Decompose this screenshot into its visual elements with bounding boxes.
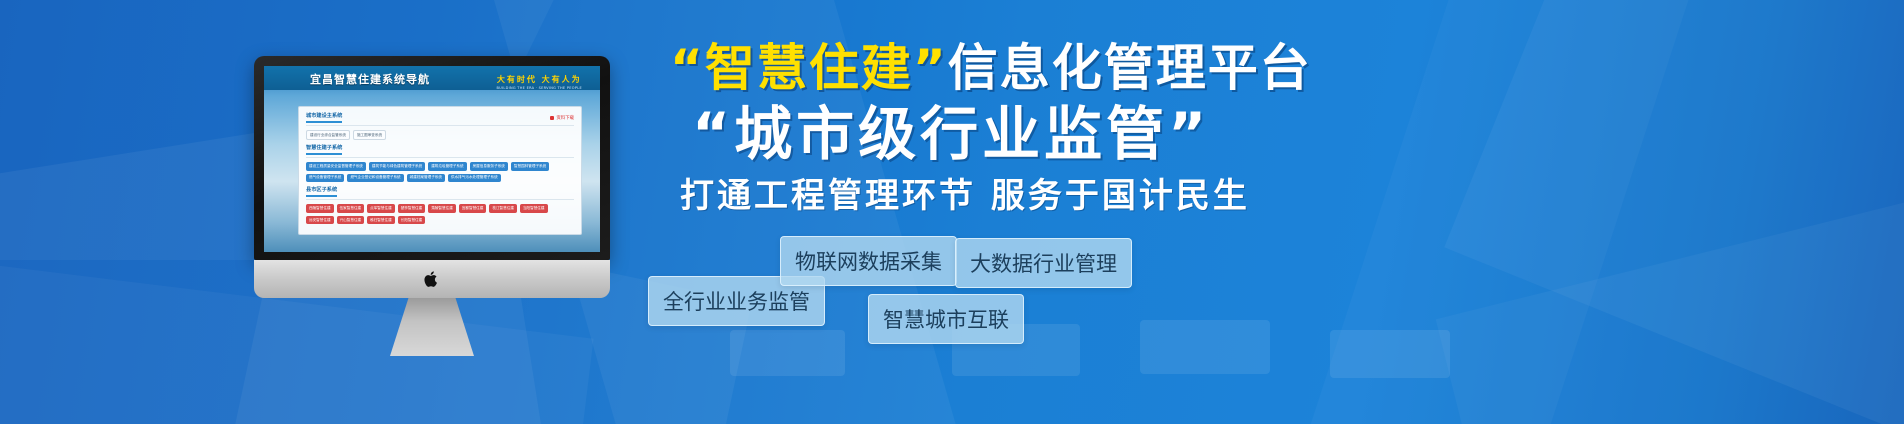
screen-chip[interactable]: 智慧园林管理子系统 [511,162,549,171]
download-label: 资料下载 [556,115,574,121]
screen-chip[interactable]: 猇亭智慧住建 [398,204,426,213]
headline-line-1-rest: 信息化管理平台 [948,39,1312,97]
screen-chip-group-sub: 建设工程质量安全监督管理子系统 建筑节能与绿色建筑管理子系统 建筑垃圾管理子系统… [306,162,574,182]
screen-section-header: 县市区子系统 [306,186,574,200]
tag-ghost-block [1330,330,1450,378]
screen-chip[interactable]: 宜都智慧住建 [459,204,487,213]
screen-panel: 城市建设主系统 资料下载 建设行业综合监管系统 施工图审查系统 智慧住建子系统 [298,106,582,235]
headline-line-2: “城市级行业监管” [648,100,1888,168]
headline-line-3: 打通工程管理环节 服务于国计民生 [648,174,1888,218]
screen-chip[interactable]: 夷陵智慧住建 [428,204,456,213]
screen-section-header: 城市建设主系统 资料下载 [306,112,574,126]
download-link[interactable]: 资料下载 [550,115,574,121]
headline-highlight: “智慧住建” [670,39,948,97]
screen-chip[interactable]: 建设行业综合监管系统 [306,130,350,140]
screen-chip[interactable]: 当阳智慧住建 [520,204,548,213]
screen-chip-group-district: 西陵智慧住建 伍家智慧住建 点军智慧住建 猇亭智慧住建 夷陵智慧住建 宜都智慧住… [306,204,574,224]
screen-section-title: 城市建设主系统 [306,112,342,123]
screen-header-title: 宜昌智慧住建系统导航 [310,71,430,87]
promo-banner: 宜昌智慧住建系统导航 大有时代 大有人为 BUILDING THE ERA · … [0,0,1904,424]
headline-block: “智慧住建”信息化管理平台 “城市级行业监管” 打通工程管理环节 服务于国计民生 [648,40,1888,219]
apple-logo-icon [424,270,440,288]
screen-chip[interactable]: 点军智慧住建 [367,204,395,213]
screen-chip-group-main: 建设行业综合监管系统 施工图审查系统 [306,130,574,140]
imac-mockup: 宜昌智慧住建系统导航 大有时代 大有人为 BUILDING THE ERA · … [254,56,610,356]
screen-chip[interactable]: 远安智慧住建 [306,216,334,225]
screen-section-title: 县市区子系统 [306,186,337,197]
screen-chip[interactable]: 施工图审查系统 [353,130,386,140]
screen-chip[interactable]: 供水排气污水处理管理子系统 [448,174,501,183]
tag-ghost-block [730,330,845,376]
screen-chip[interactable]: 燃气设备管理子系统 [306,174,344,183]
screen-chip[interactable]: 燃气企业登记和设备管理子系统 [347,174,403,183]
feature-tag-big-data[interactable]: 大数据行业管理 [955,238,1132,288]
feature-tag-iot-data[interactable]: 物联网数据采集 [780,236,957,286]
tag-ghost-block [1140,320,1270,374]
screen-chip[interactable]: 西陵智慧住建 [306,204,334,213]
feature-tag-smart-city[interactable]: 智慧城市互联 [868,294,1024,344]
screen-chip[interactable]: 建设工程质量安全监督管理子系统 [306,162,366,171]
monitor-screen: 宜昌智慧住建系统导航 大有时代 大有人为 BUILDING THE ERA · … [264,66,600,252]
screen-chip[interactable]: 建筑垃圾管理子系统 [428,162,466,171]
screen-chip[interactable]: 秭归智慧住建 [367,216,395,225]
brand-logo-main: 大有时代 大有人为 [497,75,582,84]
screen-chip[interactable]: 伍家智慧住建 [337,204,365,213]
screen-brand-logo: 大有时代 大有人为 BUILDING THE ERA · SERVING THE… [496,69,582,91]
screen-chip[interactable]: 房屋信息服务子系统 [470,162,508,171]
screen-chip[interactable]: 建筑节能与绿色建筑管理子系统 [369,162,425,171]
download-icon [550,116,554,120]
screen-section-title: 智慧住建子系统 [306,144,342,155]
screen-chip[interactable]: 枝江智慧住建 [489,204,517,213]
monitor-stand [390,298,474,356]
screen-header: 宜昌智慧住建系统导航 大有时代 大有人为 BUILDING THE ERA · … [264,66,600,90]
brand-logo-sub: BUILDING THE ERA · SERVING THE PEOPLE [496,87,582,91]
screen-section-header: 智慧住建子系统 [306,144,574,158]
screen-chip[interactable]: 城建档案管理子系统 [407,174,445,183]
monitor-chin [254,260,610,298]
screen-chip[interactable]: 长阳智慧住建 [398,216,426,225]
monitor-bezel: 宜昌智慧住建系统导航 大有时代 大有人为 BUILDING THE ERA · … [254,56,610,260]
screen-chip[interactable]: 兴山智慧住建 [337,216,365,225]
headline-line-1: “智慧住建”信息化管理平台 [648,40,1888,96]
